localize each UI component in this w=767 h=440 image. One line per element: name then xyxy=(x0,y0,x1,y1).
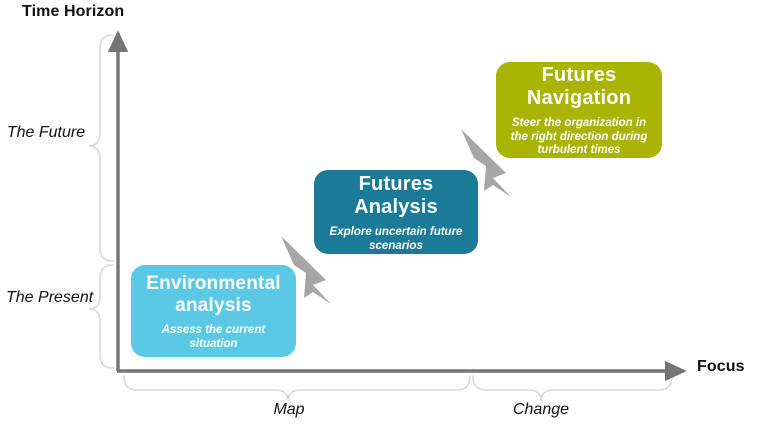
framework-diagram: Time Horizon Focus The Future The Presen… xyxy=(0,0,767,440)
card-title: Environmental analysis xyxy=(146,273,281,317)
card-subtitle: Assess the current situation xyxy=(141,324,286,351)
card-environmental-analysis[interactable]: Environmental analysis Assess the curren… xyxy=(131,265,296,357)
card-futures-navigation[interactable]: Futures Navigation Steer the organizatio… xyxy=(496,62,662,158)
card-futures-analysis[interactable]: Futures Analysis Explore uncertain futur… xyxy=(314,170,478,254)
card-subtitle: Steer the organization in the right dire… xyxy=(511,117,648,158)
card-title: Futures Analysis xyxy=(354,173,438,219)
card-subtitle: Explore uncertain future scenarios xyxy=(330,226,463,253)
card-title: Futures Navigation xyxy=(527,64,631,110)
